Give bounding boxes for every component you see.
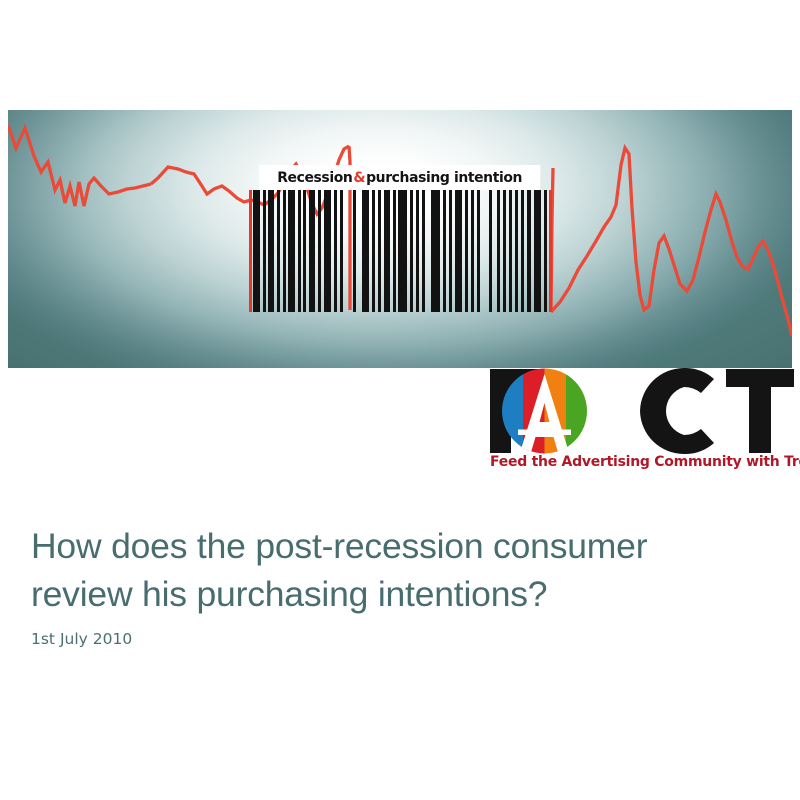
barcode-bar [471, 190, 474, 312]
barcode-bar [283, 190, 286, 312]
barcode-bar [384, 190, 390, 312]
barcode-bar [431, 190, 440, 312]
barcode-bar [378, 190, 381, 312]
barcode-bar [318, 190, 321, 312]
fact-letter-a-emblem [502, 368, 588, 454]
barcode-bar [340, 190, 343, 312]
barcode-bar [288, 190, 295, 312]
title-slide: Recession & purchasing intention [0, 0, 800, 800]
barcode-label: Recession & purchasing intention [259, 165, 540, 190]
fact-wordmark [488, 368, 796, 454]
barcode-bar [362, 190, 369, 312]
barcode-bar [549, 190, 552, 312]
barcode-bar [477, 190, 480, 312]
barcode-bar [465, 190, 468, 312]
barcode-bar [497, 190, 500, 312]
barcode-bar [398, 190, 407, 312]
barcode-bar [509, 190, 512, 312]
barcode-bar [277, 190, 280, 312]
barcode-bar [489, 190, 492, 312]
slide-date: 1st July 2010 [31, 630, 132, 648]
barcode-bar [324, 190, 331, 312]
fact-letter-c [640, 368, 714, 454]
barcode-bar [521, 190, 524, 312]
barcode-bar [253, 190, 260, 312]
barcode-bar [372, 190, 375, 312]
barcode-graphic: Recession & purchasing intention [249, 165, 552, 312]
trend-line-right-segment [551, 148, 792, 336]
barcode-bar [268, 190, 274, 312]
barcode-bar [298, 190, 301, 312]
barcode-bar [503, 190, 506, 312]
trend-line-left-segment [8, 125, 151, 206]
barcode-bar [263, 190, 266, 312]
barcode-bar [534, 190, 541, 312]
barcode-bar [449, 190, 452, 312]
barcode-bar [544, 190, 547, 312]
fact-logo: Feed the Advertising Community with Tren… [488, 368, 796, 480]
barcode-bar [353, 190, 356, 312]
barcode-bar [515, 190, 518, 312]
barcode-bar [303, 190, 306, 312]
barcode-bars [249, 190, 552, 312]
fact-tagline: Feed the Advertising Community with Tren… [490, 454, 791, 470]
hero-banner-image: Recession & purchasing intention [8, 110, 792, 368]
barcode-bar [334, 190, 337, 312]
barcode-bar [410, 190, 413, 312]
barcode-bar [416, 190, 419, 312]
barcode-bar [249, 190, 252, 312]
barcode-bar [443, 190, 446, 312]
barcode-bar [455, 190, 462, 312]
headline-line-2: review his purchasing intentions? [31, 570, 761, 618]
barcode-bar [393, 190, 396, 312]
barcode-label-part-1: Recession [277, 170, 352, 186]
barcode-bar [527, 190, 531, 312]
headline-line-1: How does the post-recession consumer [31, 526, 647, 566]
fact-letter-t [726, 369, 794, 453]
slide-headline: How does the post-recession consumer rev… [31, 522, 761, 618]
barcode-label-part-2: purchasing intention [366, 170, 522, 186]
barcode-bar [309, 190, 315, 312]
barcode-bar [422, 190, 425, 312]
barcode-label-ampersand: & [352, 170, 366, 186]
